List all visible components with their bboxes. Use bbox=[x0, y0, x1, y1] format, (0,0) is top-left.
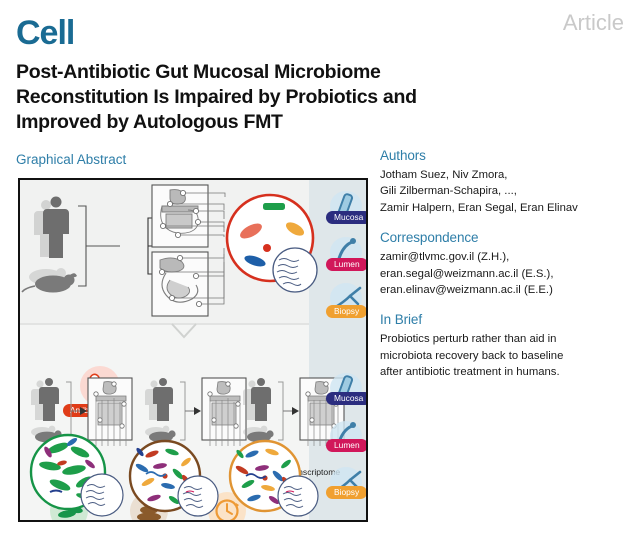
correspondence-email-1[interactable]: zamir@tlvmc.gov.il (Z.H.), bbox=[380, 249, 630, 265]
bottom-microbiome-circles bbox=[20, 180, 368, 522]
article-type-label: Article bbox=[563, 10, 624, 36]
sampling-label-lumen-bottom: Lumen bbox=[326, 439, 368, 452]
correspondence-block: Correspondence zamir@tlvmc.gov.il (Z.H.)… bbox=[380, 230, 630, 298]
authors-heading: Authors bbox=[380, 148, 630, 163]
authors-line-3: Zamir Halpern, Eran Segal, Eran Elinav bbox=[380, 200, 630, 216]
sampling-label-biopsy-bottom: Biopsy bbox=[326, 486, 367, 499]
correspondence-heading: Correspondence bbox=[380, 230, 630, 245]
microbiome-circle-auto-fmt bbox=[130, 441, 218, 516]
page-title: Post-Antibiotic Gut Mucosal Microbiome R… bbox=[16, 60, 436, 135]
authors-line-2: Gili Zilberman-Schapira, ..., bbox=[380, 183, 630, 199]
badge-probiotics: Probiotics bbox=[44, 520, 94, 522]
in-brief-line-2: microbiota recovery back to baseline bbox=[380, 348, 630, 364]
graphical-abstract-heading: Graphical Abstract bbox=[16, 152, 126, 167]
graphical-abstract-figure: Antibiotics bbox=[18, 178, 368, 522]
microbiome-circle-spontaneous bbox=[230, 441, 318, 516]
correspondence-email-2[interactable]: eran.segal@weizmann.ac.il (E.S.), bbox=[380, 266, 630, 282]
authors-line-1: Jotham Suez, Niv Zmora, bbox=[380, 167, 630, 183]
sampling-label-mucosa-bottom: Mucosa bbox=[326, 392, 368, 405]
in-brief-heading: In Brief bbox=[380, 312, 630, 327]
microbiome-circle-probiotics bbox=[31, 435, 123, 516]
journal-logo: Cell bbox=[16, 16, 74, 50]
in-brief-block: In Brief Probiotics perturb rather than … bbox=[380, 312, 630, 380]
paper-first-page: Cell Article Post-Antibiotic Gut Mucosal… bbox=[0, 0, 640, 533]
badge-auto-fmt: Auto FMT bbox=[125, 520, 175, 522]
metadata-column: Authors Jotham Suez, Niv Zmora, Gili Zil… bbox=[380, 148, 630, 394]
in-brief-line-3: after antibiotic treatment in humans. bbox=[380, 364, 630, 380]
in-brief-line-1: Probiotics perturb rather than aid in bbox=[380, 331, 630, 347]
correspondence-email-3[interactable]: eran.elinav@weizmann.ac.il (E.E.) bbox=[380, 282, 630, 298]
authors-block: Authors Jotham Suez, Niv Zmora, Gili Zil… bbox=[380, 148, 630, 216]
badge-spontaneous-recovery: Spontaneous recovery bbox=[188, 520, 284, 522]
